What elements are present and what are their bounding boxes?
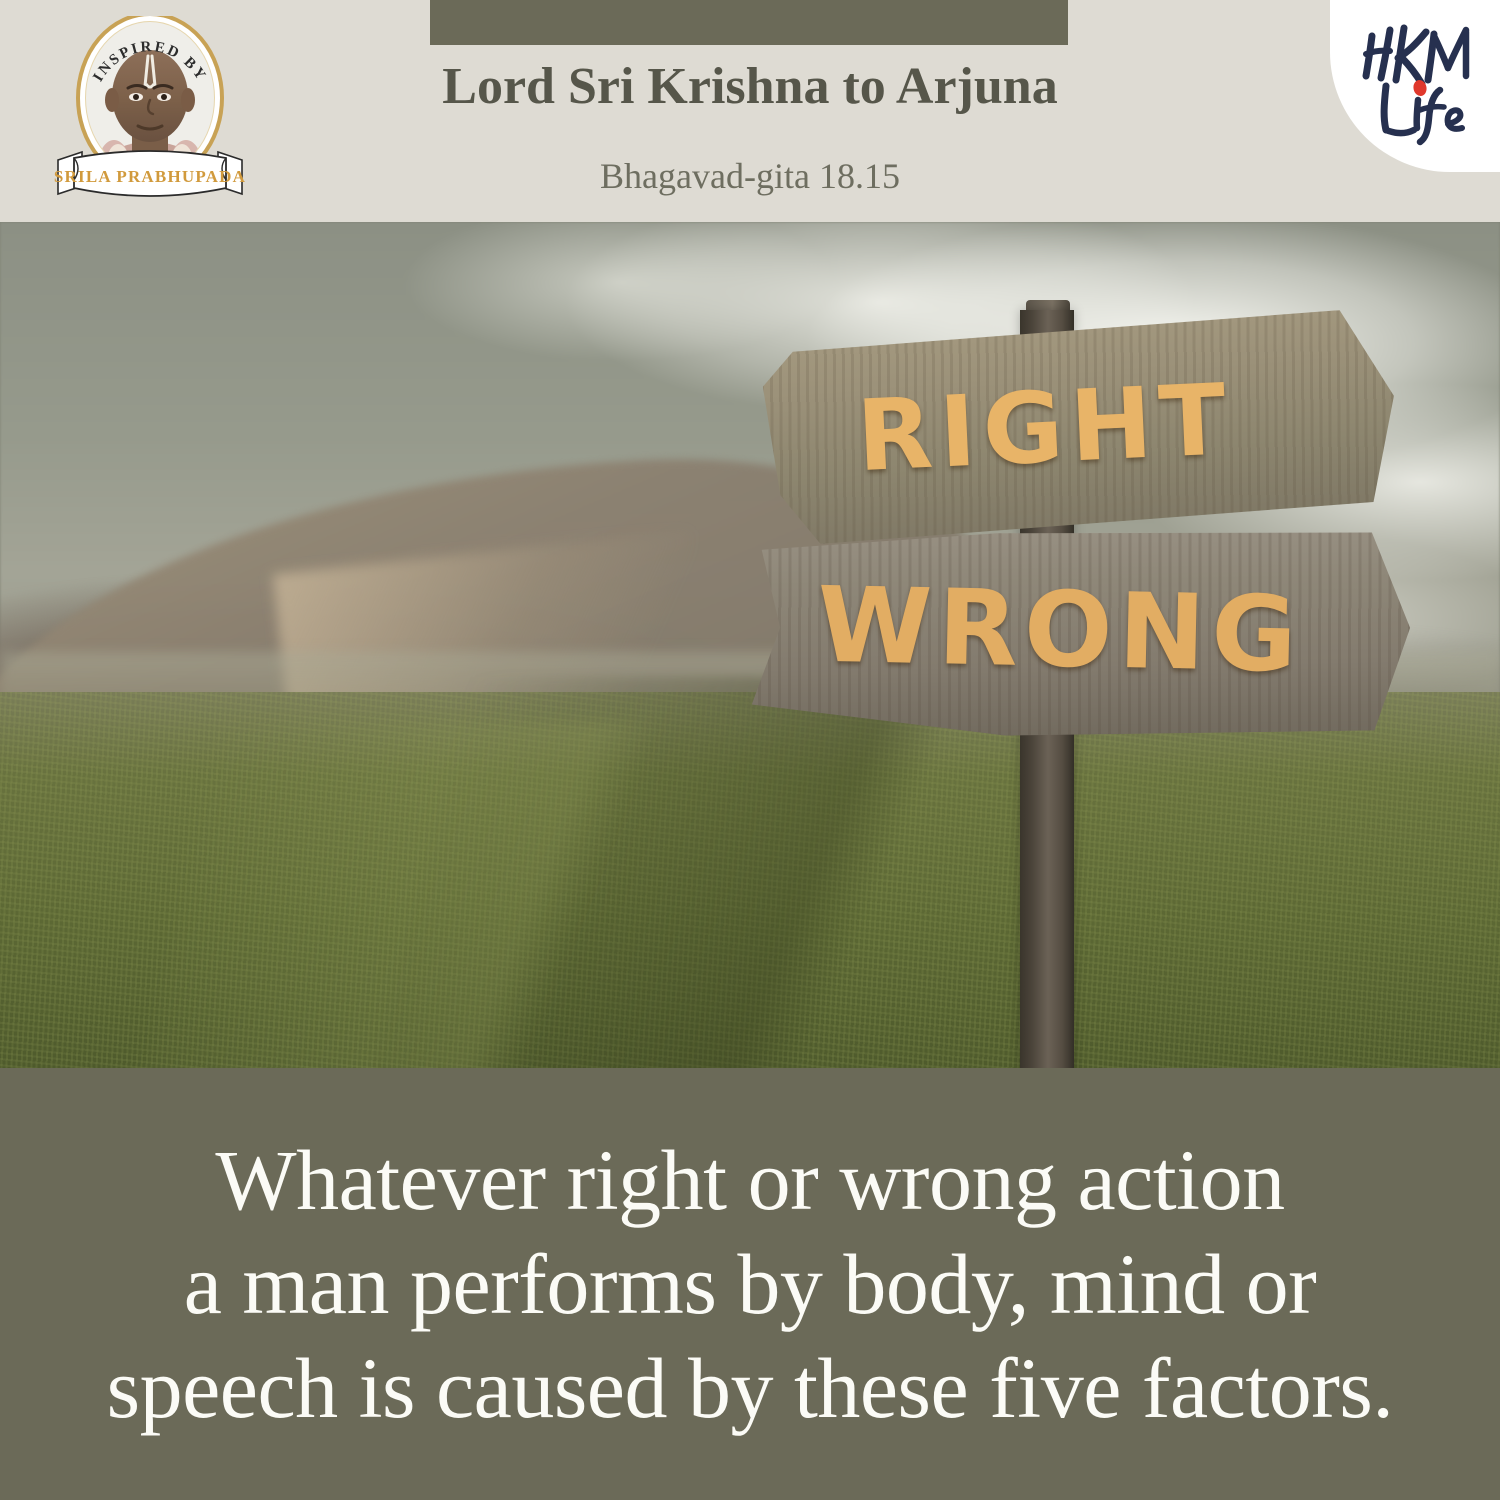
- scripture-reference: Bhagavad-gita 18.15: [430, 155, 1070, 197]
- page-title: Lord Sri Krishna to Arjuna: [430, 58, 1070, 116]
- quote-band: Whatever right or wrong action a man per…: [0, 1068, 1500, 1500]
- seal-ribbon-text: SRILA PRABHUPADA: [54, 167, 246, 186]
- quote-text: Whatever right or wrong action a man per…: [80, 1128, 1420, 1440]
- header-accent-bar: [430, 0, 1068, 45]
- srila-prabhupada-seal-logo: INSPIRED BY SRILA PRABHUPADA: [48, 16, 252, 212]
- quote-line-2: a man performs by body, mind or: [80, 1232, 1420, 1336]
- quote-line-3: speech is caused by these five factors.: [80, 1336, 1420, 1440]
- quote-poster: INSPIRED BY SRILA PRABHUPADA Lord Sri Kr…: [0, 0, 1500, 1500]
- quote-line-1: Whatever right or wrong action: [80, 1128, 1420, 1232]
- sign-wrong-label: WRONG: [748, 515, 1372, 743]
- field-light-streak: [142, 722, 919, 1068]
- hkm-life-logo: [1356, 18, 1486, 148]
- poster-header: INSPIRED BY SRILA PRABHUPADA Lord Sri Kr…: [0, 0, 1500, 222]
- signpost-photo: RIGHT WRONG: [0, 222, 1500, 1068]
- sign-wrong: WRONG: [738, 515, 1412, 744]
- seal-ribbon: SRILA PRABHUPADA: [54, 151, 246, 196]
- hkm-life-badge[interactable]: [1330, 0, 1500, 172]
